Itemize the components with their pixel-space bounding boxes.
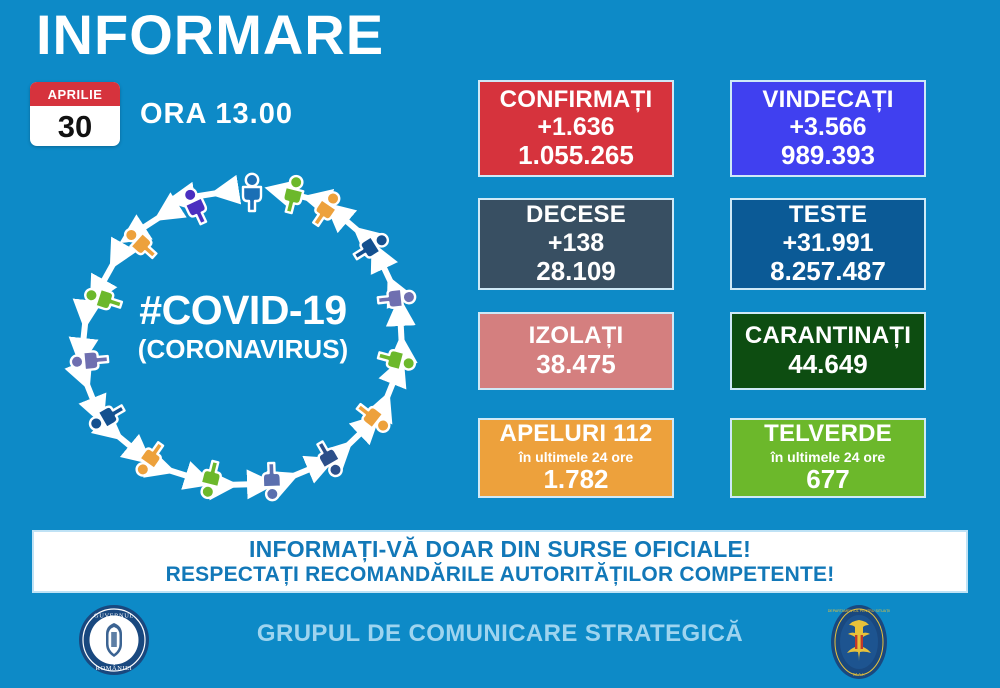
stat-card-izolati: IZOLAȚI 38.475 [478, 312, 674, 390]
stat-card-vindecati: VINDECAȚI +3.566 989.393 [730, 80, 926, 177]
report-time-label: ORA 13.00 [140, 98, 293, 131]
stat-label: IZOLAȚI [529, 323, 624, 350]
notice-line-2: RESPECTAȚI RECOMANDĂRILE AUTORITĂȚILOR C… [166, 563, 835, 587]
stat-card-decese: DECESE +138 28.109 [478, 198, 674, 290]
calendar-day-label: 30 [30, 106, 120, 146]
svg-text:DEPARTAMENTUL PENTRU SITUAȚII: DEPARTAMENTUL PENTRU SITUAȚII [828, 609, 891, 613]
covid-circle-svg [28, 165, 458, 510]
notice-line-1: INFORMAȚI-VĂ DOAR DIN SURSE OFICIALE! [249, 536, 751, 562]
informare-infographic: INFORMARE APRILIE 30 ORA 13.00 [0, 0, 1000, 688]
covid-circle-graphic: #COVID-19 (CORONAVIRUS) [28, 165, 458, 510]
svg-text:ROMÂNIEI: ROMÂNIEI [96, 664, 133, 672]
stat-total: 677 [806, 465, 849, 494]
stat-sublabel: în ultimele 24 ore [519, 449, 633, 465]
stat-total: 1.782 [543, 465, 608, 494]
stat-card-apeluri-112: APELURI 112 în ultimele 24 ore 1.782 [478, 418, 674, 498]
stat-delta: +138 [548, 229, 604, 257]
stat-label: VINDECAȚI [762, 87, 893, 114]
departamentul-situatii-urgenta-logo: DEPARTAMENTUL PENTRU SITUAȚII M.A.I. [820, 604, 898, 685]
stat-sublabel: în ultimele 24 ore [771, 449, 885, 465]
stat-label: TESTE [789, 202, 867, 229]
stat-total: 989.393 [781, 141, 875, 170]
stat-total: 44.649 [788, 350, 868, 379]
svg-text:GUVERNUL: GUVERNUL [94, 613, 134, 620]
svg-text:M.A.I.: M.A.I. [853, 672, 864, 677]
stat-total: 1.055.265 [518, 141, 634, 170]
page-title: INFORMARE [36, 4, 384, 66]
stat-delta: +1.636 [537, 113, 614, 141]
stat-delta: +3.566 [789, 113, 866, 141]
stat-card-confirmati: CONFIRMAȚI +1.636 1.055.265 [478, 80, 674, 177]
stat-card-teste: TESTE +31.991 8.257.487 [730, 198, 926, 290]
stat-label: DECESE [526, 202, 626, 229]
stat-total: 38.475 [536, 350, 616, 379]
stat-label: CARANTINAȚI [745, 323, 911, 350]
stat-total: 28.109 [536, 257, 616, 286]
calendar-month-label: APRILIE [30, 82, 120, 106]
stat-card-telverde: TELVERDE în ultimele 24 ore 677 [730, 418, 926, 498]
stat-label: TELVERDE [764, 421, 892, 448]
official-sources-notice: INFORMAȚI-VĂ DOAR DIN SURSE OFICIALE! RE… [32, 530, 968, 593]
stat-delta: +31.991 [782, 229, 873, 257]
calendar-icon: APRILIE 30 [30, 82, 120, 146]
stat-label: APELURI 112 [500, 421, 653, 448]
stat-label: CONFIRMAȚI [500, 87, 653, 114]
stat-total: 8.257.487 [770, 257, 886, 286]
stat-card-carantinati: CARANTINAȚI 44.649 [730, 312, 926, 390]
